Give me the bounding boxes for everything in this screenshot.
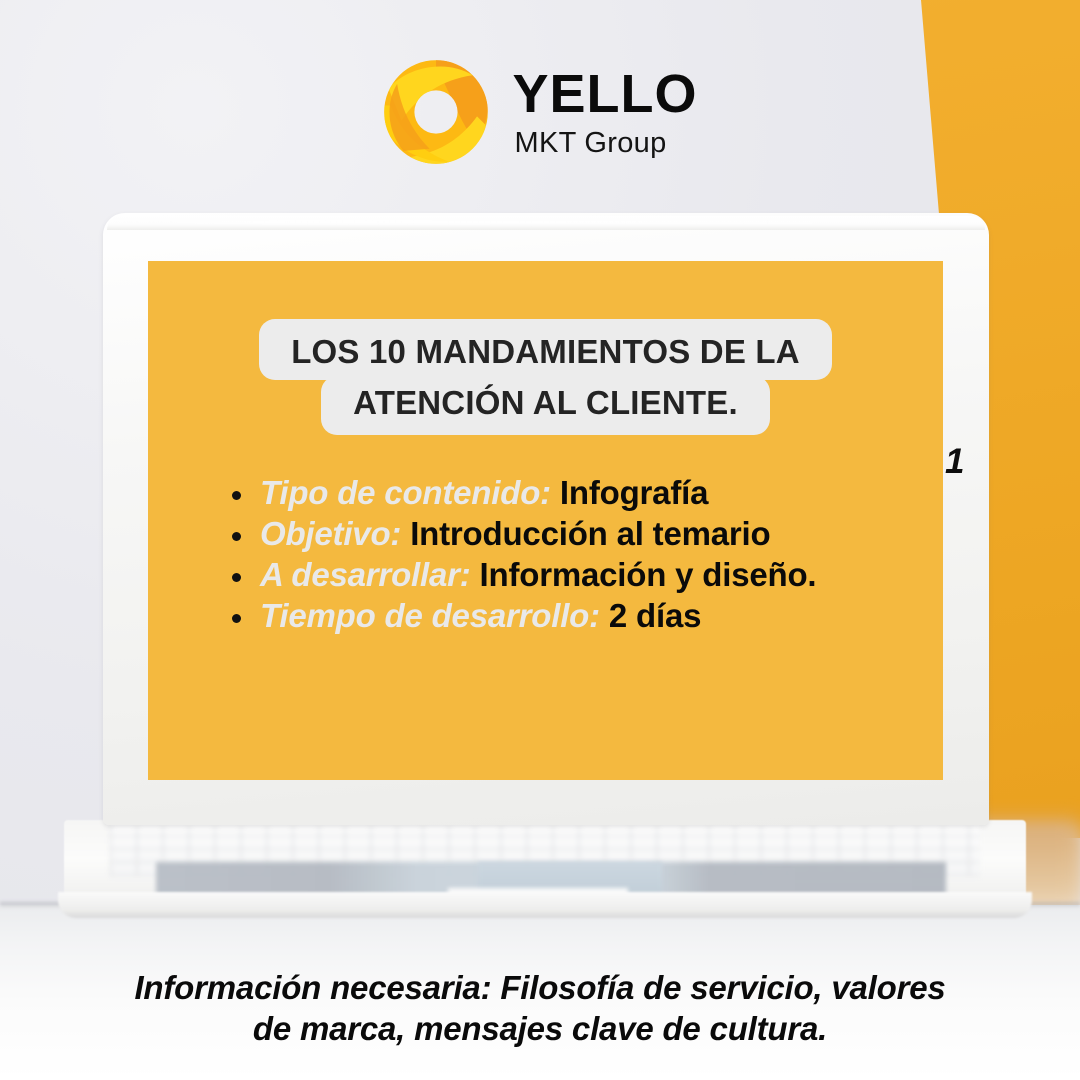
slide-title-line-2: ATENCIÓN AL CLIENTE.	[321, 376, 770, 435]
bullet-label: Tiempo de desarrollo:	[260, 597, 600, 634]
brand-subtitle: MKT Group	[514, 129, 697, 158]
bullet-label: A desarrollar:	[260, 556, 471, 593]
list-item: Tipo de contenido: Infografía	[218, 473, 918, 514]
slide-title-line-1: LOS 10 MANDAMIENTOS DE LA	[259, 319, 832, 380]
brand-logo: YELLO MKT Group	[0, 58, 1080, 166]
brand-name: YELLO	[512, 67, 697, 121]
bullet-value: 2 días	[609, 597, 701, 634]
footer-line-2: de marca, mensajes clave de cultura.	[50, 1009, 1030, 1050]
list-item: Tiempo de desarrollo: 2 días	[218, 596, 918, 637]
swirl-circle-icon	[382, 58, 490, 166]
laptop-lid-highlight	[112, 220, 812, 224]
slide-screen: LOS 10 MANDAMIENTOS DE LA ATENCIÓN AL CL…	[148, 261, 943, 780]
footer-note: Información necesaria: Filosofía de serv…	[50, 968, 1030, 1050]
footer-line-1: Información necesaria: Filosofía de serv…	[50, 968, 1030, 1009]
list-item: Objetivo: Introducción al temario	[218, 514, 918, 555]
bullet-label: Tipo de contenido:	[260, 474, 551, 511]
laptop-lid: MÓDULO 1 LOS 10 MANDAMIENTOS DE LA ATENC…	[103, 213, 989, 825]
bullet-label: Objetivo:	[260, 515, 401, 552]
slide-title: LOS 10 MANDAMIENTOS DE LA ATENCIÓN AL CL…	[148, 319, 943, 435]
bullet-value: Información y diseño.	[480, 556, 817, 593]
laptop-front-edge	[58, 892, 1032, 918]
brand-wordmark: YELLO MKT Group	[512, 67, 697, 158]
poster-canvas: MÓDULO 1 LOS 10 MANDAMIENTOS DE LA ATENC…	[0, 0, 1080, 1080]
bullet-value: Introducción al temario	[410, 515, 770, 552]
list-item: A desarrollar: Información y diseño.	[218, 555, 918, 596]
bullet-value: Infografía	[560, 474, 708, 511]
slide-bullet-list: Tipo de contenido: Infografía Objetivo: …	[218, 473, 918, 637]
